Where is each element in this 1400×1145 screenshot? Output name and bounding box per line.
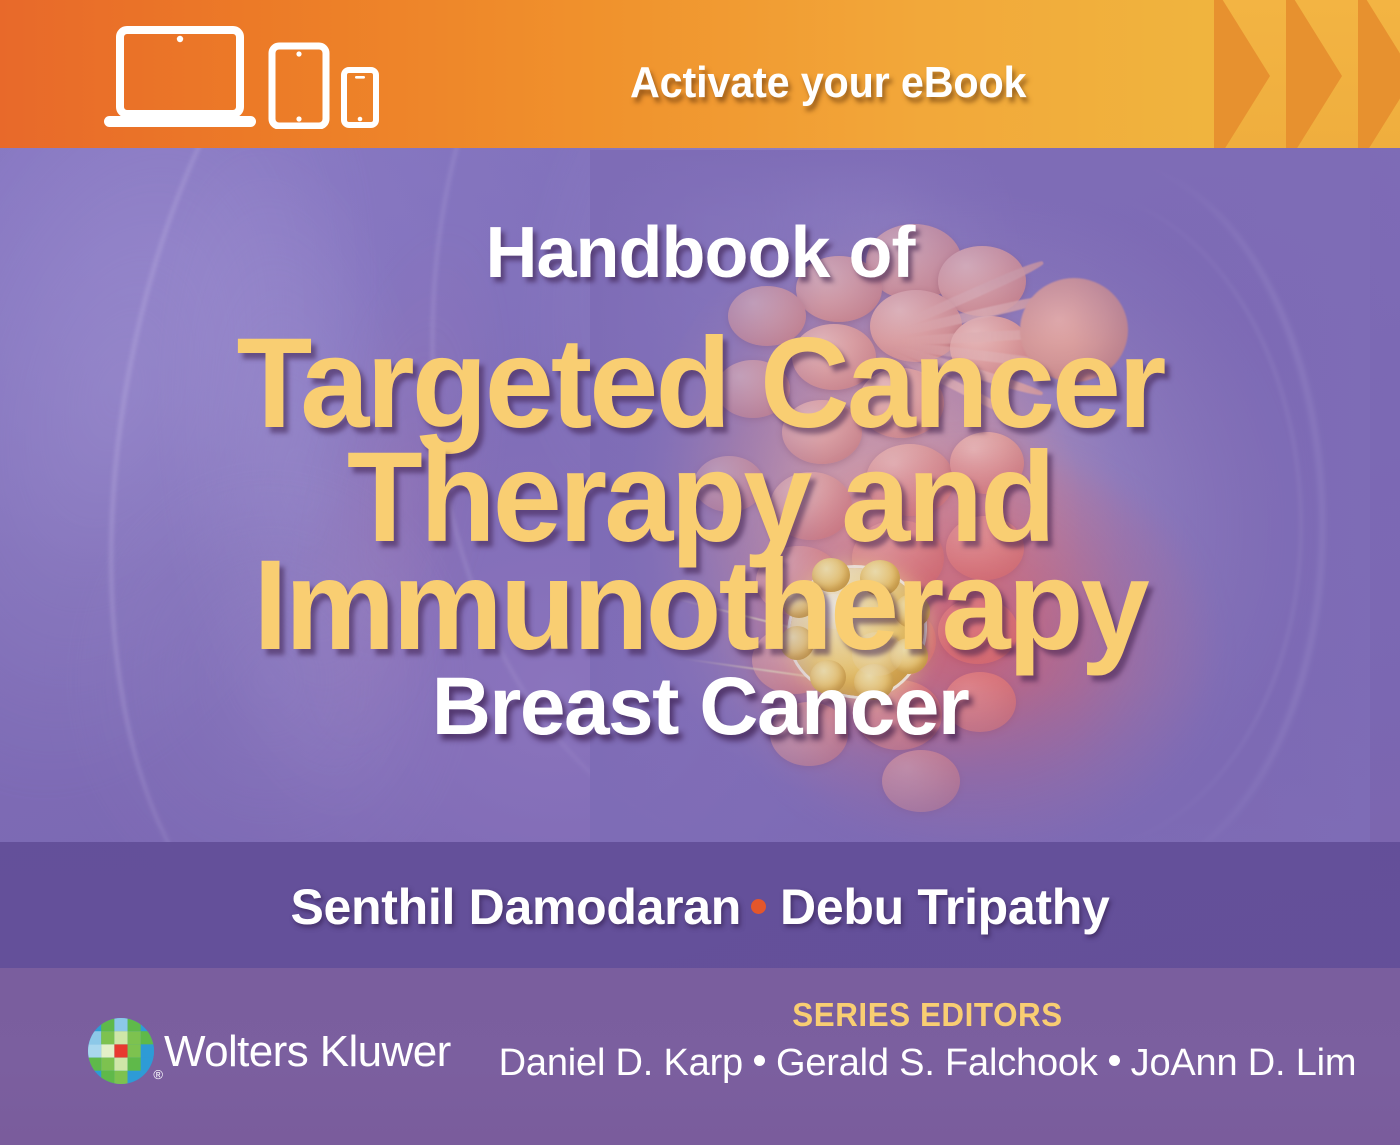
series-editor-1: Daniel D. Karp [499,1042,743,1084]
book-cover: Activate your eBook Handbook of Targeted… [0,0,1400,1145]
title-line-3: Immunotherapy [21,532,1379,679]
authors-line: Senthil DamodaranDebu Tripathy [0,878,1400,936]
title-prefix: Handbook of [0,212,1400,294]
series-editor-3: JoAnn D. Lim [1131,1042,1357,1084]
activate-ebook-label: Activate your eBook [630,58,1026,108]
author-separator-dot [751,899,766,914]
series-editor-2: Gerald S. Falchook [776,1042,1098,1084]
series-editor-separator-dot [1109,1055,1120,1066]
chevron-right-icon [1286,0,1342,148]
activate-ebook-banner[interactable]: Activate your eBook [0,0,1400,148]
laptop-tablet-phone-icon [104,24,384,129]
series-editors-label: SERIES EDITORS [479,996,1377,1034]
author-name-1: Senthil Damodaran [290,879,741,935]
author-name-2: Debu Tripathy [780,879,1109,935]
chevron-right-icon [1358,0,1400,148]
publisher-logo: ® Wolters Kluwer [88,1018,451,1084]
series-editor-separator-dot [754,1055,765,1066]
registered-trademark-mark: ® [153,1067,163,1082]
title-subtitle: Breast Cancer [0,660,1400,754]
series-editors-names: Daniel D. KarpGerald S. FalchookJoAnn D.… [455,1042,1400,1085]
chevron-right-icon [1214,0,1270,148]
publisher-name: Wolters Kluwer [164,1027,451,1077]
wolters-kluwer-globe-icon: ® [88,1018,154,1084]
